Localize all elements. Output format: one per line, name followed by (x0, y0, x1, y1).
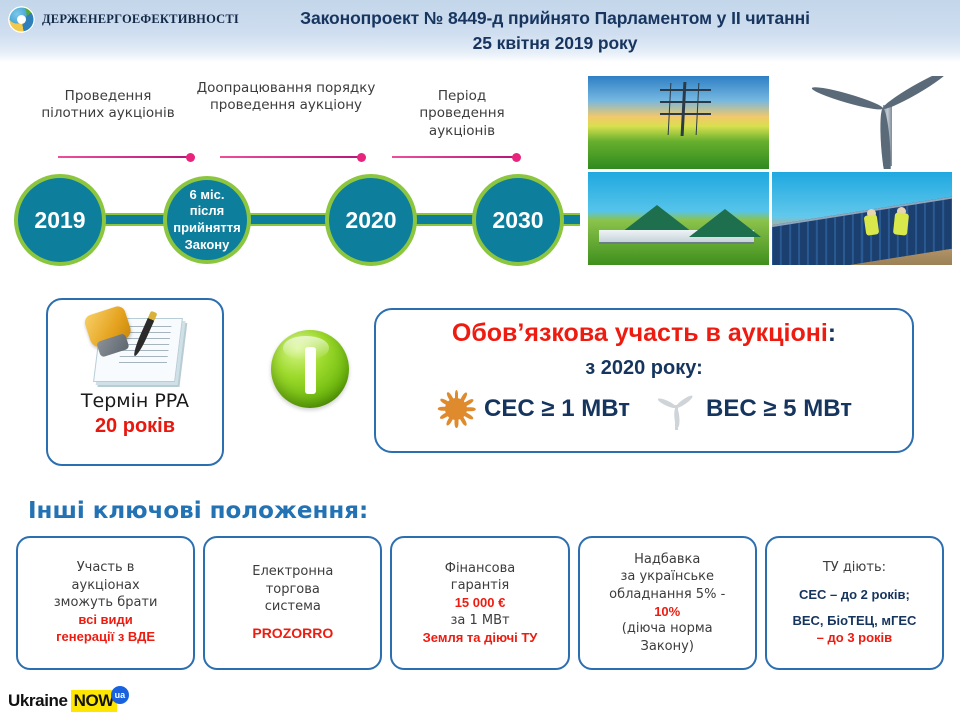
timeline-label-1: Проведення пілотних аукціонів (38, 88, 178, 123)
agency-emblem-icon (8, 6, 35, 33)
sun-icon (436, 389, 476, 429)
card-line: – до 3 років (817, 629, 892, 646)
provision-card-participation: Участь в аукціонах зможуть брати всі вид… (16, 536, 195, 670)
card-line: за 1 МВт (450, 612, 509, 629)
card-line-emphasis: генерації з ВДЕ (56, 629, 155, 644)
card-line: генерації з ВДЕ (56, 628, 155, 646)
mandatory-auction-card: Обов’язкова участь в аукціоні: з 2020 ро… (374, 308, 914, 453)
power-lines-green-field-sunset-photo (588, 76, 769, 169)
card-line: PROZORRO (252, 624, 333, 643)
timeline-connector-dot-1 (186, 153, 195, 162)
timeline-node-2030: 2030 (472, 174, 564, 266)
auction-heading-colon: : (828, 319, 836, 347)
card-line: 15 000 € (455, 594, 506, 611)
card-line: СЕС – до 2 років; (799, 586, 910, 603)
ukraine-now-logo: Ukraine NOW ua (8, 686, 129, 715)
timeline-node-six-months: 6 міс. після прийняття Закону (163, 176, 251, 264)
other-provisions-title: Інші ключові положення: (28, 498, 368, 524)
provision-card-local-content-bonus: Надбавка за українське обладнання 5% - 1… (578, 536, 757, 670)
card-line: ТУ діють: (823, 559, 886, 576)
page-title-line1: Законопроект № 8449-д прийнято Парламент… (195, 6, 915, 31)
page-title: Законопроект № 8449-д прийнято Парламент… (195, 6, 915, 56)
timeline-label-3: Період проведення аукціонів (398, 88, 526, 140)
provision-card-trading-system: Електронна торгова система PROZORRO (203, 536, 382, 670)
timeline-labels: Проведення пілотних аукціонів Доопрацюва… (0, 80, 580, 146)
card-line: Електронна (252, 563, 333, 580)
ppa-term-label: Термін PPA (81, 390, 189, 412)
ukraine-now-part2: NOW (71, 690, 117, 712)
timeline-connector-line-1 (58, 156, 188, 158)
card-line: Земля та діючі ТУ (423, 629, 538, 646)
worker-body (893, 212, 909, 235)
biogas-building (599, 230, 754, 244)
ppa-term-card: Термін PPA 20 років (46, 298, 224, 466)
photo-collage (588, 76, 952, 265)
provision-card-grid-connection-validity: ТУ діють: СЕС – до 2 років; ВЕС, БіоТЕЦ,… (765, 536, 944, 670)
timeline-node-2020: 2020 (325, 174, 417, 266)
card-line: Надбавка (634, 551, 700, 568)
timeline-connector-dot-3 (512, 153, 521, 162)
auction-threshold-wind-text: ВЕС ≥ 5 МВт (706, 395, 852, 423)
card-line: торгова (266, 581, 320, 598)
timeline-label-2: Доопрацювання порядку проведення аукціон… (196, 80, 376, 115)
green-exclamation-icon (271, 330, 349, 408)
card-line: всі види (78, 611, 132, 628)
auction-threshold-solar: СЕС ≥ 1 МВт (436, 389, 630, 429)
card-line: аукціонах (72, 577, 140, 594)
timeline-connector-dot-2 (357, 153, 366, 162)
card-line: зможуть брати (54, 594, 158, 611)
solar-array (772, 196, 953, 265)
auction-threshold-solar-text: СЕС ≥ 1 МВт (484, 395, 630, 423)
signed-document-stamp-pen-icon (79, 308, 191, 388)
auction-threshold-wind: ВЕС ≥ 5 МВт (654, 387, 852, 431)
auction-heading: Обов’язкова участь в аукціоні: (376, 320, 912, 348)
auction-thresholds: СЕС ≥ 1 МВт ВЕС ≥ 5 МВт (376, 387, 912, 431)
card-line: ВЕС, БіоТЕЦ, мГЕС (792, 612, 916, 629)
card-line: гарантія (451, 577, 510, 594)
wind-turbine-sunset-photo (772, 76, 953, 169)
card-line: Участь в (77, 559, 135, 576)
card-line: обладнання 5% - (609, 586, 725, 603)
ukraine-now-part1: Ukraine (8, 691, 68, 711)
card-line: система (265, 598, 321, 615)
card-line: за українське (620, 568, 714, 585)
auction-subheading: з 2020 року: (376, 357, 912, 380)
ppa-term-value: 20 років (95, 415, 175, 438)
timeline-connector-line-3 (392, 156, 514, 158)
card-line: Закону) (641, 638, 694, 655)
card-line: 10% (654, 603, 680, 620)
timeline-connectors (0, 150, 600, 164)
ua-badge-icon: ua (111, 686, 129, 704)
biogas-plant-corn-field-photo (588, 172, 769, 265)
page-title-line2: 25 квітня 2019 року (195, 31, 915, 56)
card-line: (діюча норма (622, 620, 713, 637)
other-provisions-cards: Участь в аукціонах зможуть брати всі вид… (16, 536, 944, 670)
timeline-connector-line-2 (220, 156, 360, 158)
card-line: Фінансова (445, 560, 516, 577)
solar-panels-workers-photo (772, 172, 953, 265)
provision-card-financial-guarantee: Фінансова гарантія 15 000 € за 1 МВт Зем… (390, 536, 569, 670)
timeline-node-2019: 2019 (14, 174, 106, 266)
auction-heading-text: Обов’язкова участь в аукціоні (452, 319, 828, 347)
wind-turbine-icon (654, 387, 698, 431)
